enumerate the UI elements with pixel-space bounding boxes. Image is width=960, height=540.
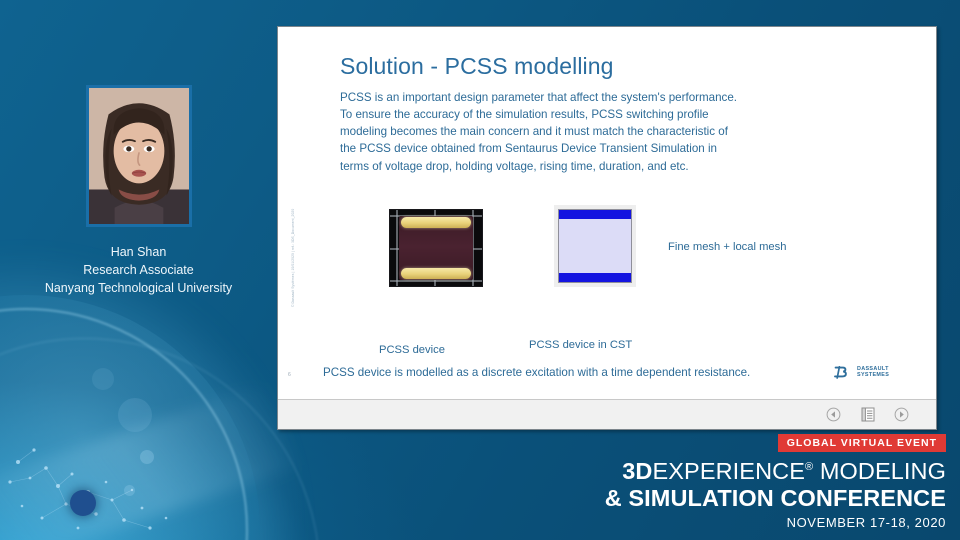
- conference-dates: NOVEMBER 17-18, 2020: [605, 515, 946, 530]
- slide-page-number: 6: [288, 372, 291, 378]
- mesh-gridline: [390, 280, 482, 282]
- slide-frame: © Dassault Systèmes | 10/01/2020 | ref.:…: [277, 26, 937, 430]
- slide-canvas: © Dassault Systèmes | 10/01/2020 | ref.:…: [278, 27, 936, 399]
- bokeh-decoration: [140, 450, 154, 464]
- body-line: modeling becomes the main concern and it…: [340, 123, 850, 140]
- bokeh-decoration: [92, 368, 114, 390]
- speaker-affiliation: Nanyang Technological University: [0, 279, 277, 297]
- body-line: the PCSS device obtained from Sentaurus …: [340, 140, 850, 157]
- global-virtual-event-badge: GLOBAL VIRTUAL EVENT: [778, 434, 946, 452]
- next-slide-icon: [894, 407, 909, 422]
- brand-modeling: MODELING: [813, 458, 946, 484]
- cst-mesh-body: [558, 209, 632, 283]
- globe-glow-decoration: [0, 295, 260, 540]
- figure-caption-cst: PCSS device in CST: [529, 339, 632, 351]
- dassault-systemes-logo: DASSAULT SYSTEMES: [833, 366, 889, 379]
- brand-experience: EXPERIENCE: [653, 458, 806, 484]
- speaker-portrait-image: [89, 88, 189, 224]
- speaker-panel: Han Shan Research Associate Nanyang Tech…: [0, 85, 277, 297]
- globe-rim-outer-decoration: [0, 338, 320, 540]
- previous-slide-button[interactable]: [825, 406, 842, 423]
- speaker-info: Han Shan Research Associate Nanyang Tech…: [0, 243, 277, 297]
- device-top-contact: [401, 217, 471, 228]
- light-streak-decoration: [0, 383, 296, 540]
- body-line: terms of voltage drop, holding voltage, …: [340, 158, 850, 175]
- bokeh-decoration: [118, 398, 152, 432]
- speaker-name: Han Shan: [0, 243, 277, 261]
- network-node-decoration: [70, 490, 96, 516]
- cst-top-electrode: [559, 210, 631, 219]
- slide-title: Solution - PCSS modelling: [340, 53, 614, 80]
- cst-bottom-electrode: [559, 273, 631, 282]
- bokeh-decoration: [124, 485, 135, 496]
- next-slide-button[interactable]: [893, 406, 910, 423]
- conference-branding: GLOBAL VIRTUAL EVENT 3DEXPERIENCE® MODEL…: [605, 433, 946, 530]
- device-bottom-contact: [401, 268, 471, 279]
- notes-panel-button[interactable]: [859, 406, 876, 423]
- slide-footer-text: PCSS device is modelled as a discrete ex…: [323, 366, 750, 379]
- ds-3ds-mark-icon: [833, 366, 853, 379]
- player-toolbar: [278, 399, 936, 429]
- globe-rim-decoration: [0, 308, 248, 540]
- conference-title-line2: & SIMULATION CONFERENCE: [605, 485, 946, 512]
- network-dots-decoration: [0, 430, 230, 540]
- conference-title-line1: 3DEXPERIENCE® MODELING: [605, 458, 946, 485]
- previous-slide-icon: [826, 407, 841, 422]
- pcss-device-cst-mesh-image: [554, 205, 636, 287]
- speaker-role: Research Associate: [0, 261, 277, 279]
- ds-wordmark: DASSAULT SYSTEMES: [857, 367, 889, 379]
- figure-caption-device: PCSS device: [379, 344, 445, 356]
- brand-3d: 3D: [622, 458, 652, 484]
- notes-panel-icon: [861, 407, 875, 422]
- mesh-label: Fine mesh + local mesh: [668, 241, 786, 253]
- body-line: PCSS is an important design parameter th…: [340, 89, 850, 106]
- copyright-strip: © Dassault Systèmes | 10/01/2020 | ref.:…: [291, 295, 295, 307]
- presentation-viewer: Han Shan Research Associate Nanyang Tech…: [0, 0, 960, 540]
- slide-body-text: PCSS is an important design parameter th…: [340, 89, 850, 175]
- pcss-device-render-image: [389, 209, 483, 287]
- registered-mark: ®: [805, 462, 813, 474]
- ds-word-line2: SYSTEMES: [857, 373, 889, 379]
- avatar: [86, 85, 192, 227]
- body-line: To ensure the accuracy of the simulation…: [340, 106, 850, 123]
